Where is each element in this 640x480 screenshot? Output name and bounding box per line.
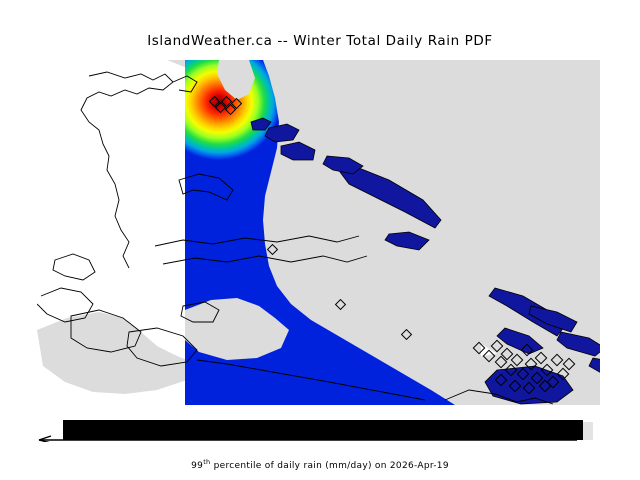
colorbar: [37, 420, 600, 442]
caption-percentile: 99: [191, 461, 203, 471]
water-east-strait: [589, 358, 600, 382]
station-marker: [517, 368, 528, 379]
colorbar-overflow-swatch: [583, 422, 593, 440]
station-marker: [547, 376, 558, 387]
station-marker: [525, 358, 536, 369]
colorbar-axis-arrow: [37, 434, 577, 442]
page-title: IslandWeather.ca -- Winter Total Daily R…: [0, 33, 640, 49]
station-marker: [495, 356, 506, 367]
station-marker: [541, 364, 552, 375]
water-gulf-2: [529, 306, 577, 332]
weather-map-figure: IslandWeather.ca -- Winter Total Daily R…: [0, 0, 640, 480]
precipitation-field: [185, 60, 481, 405]
station-marker: [523, 382, 534, 393]
station-marker: [531, 372, 542, 383]
colorbar-caption: 99th percentile of daily rain (mm/day) o…: [0, 458, 640, 471]
water-gulf-4: [497, 328, 543, 354]
station-marker: [539, 380, 550, 391]
station-marker: [511, 354, 522, 365]
station-marker: [563, 358, 574, 369]
station-marker: [557, 368, 568, 379]
station-marker: [495, 374, 506, 385]
caption-description: percentile of daily rain (mm/day) on 202…: [210, 461, 448, 471]
precipitation-raster: [185, 60, 481, 405]
station-marker: [501, 348, 512, 359]
map-panel[interactable]: [37, 60, 600, 405]
coast-inlet-nw: [81, 72, 173, 268]
coast-archipelago-3: [71, 310, 141, 352]
station-marker: [509, 380, 520, 391]
station-marker: [491, 340, 502, 351]
station-marker: [535, 352, 546, 363]
water-gulf-1: [489, 288, 565, 336]
station-marker: [521, 344, 532, 355]
coast-archipelago-2: [37, 288, 93, 322]
water-gulf-3: [557, 332, 600, 356]
station-marker: [483, 350, 494, 361]
station-marker: [551, 354, 562, 365]
station-marker: [505, 364, 516, 375]
coast-archipelago-1: [53, 254, 95, 280]
water-victoria-basin: [485, 366, 573, 404]
land-southwest: [37, 312, 197, 394]
